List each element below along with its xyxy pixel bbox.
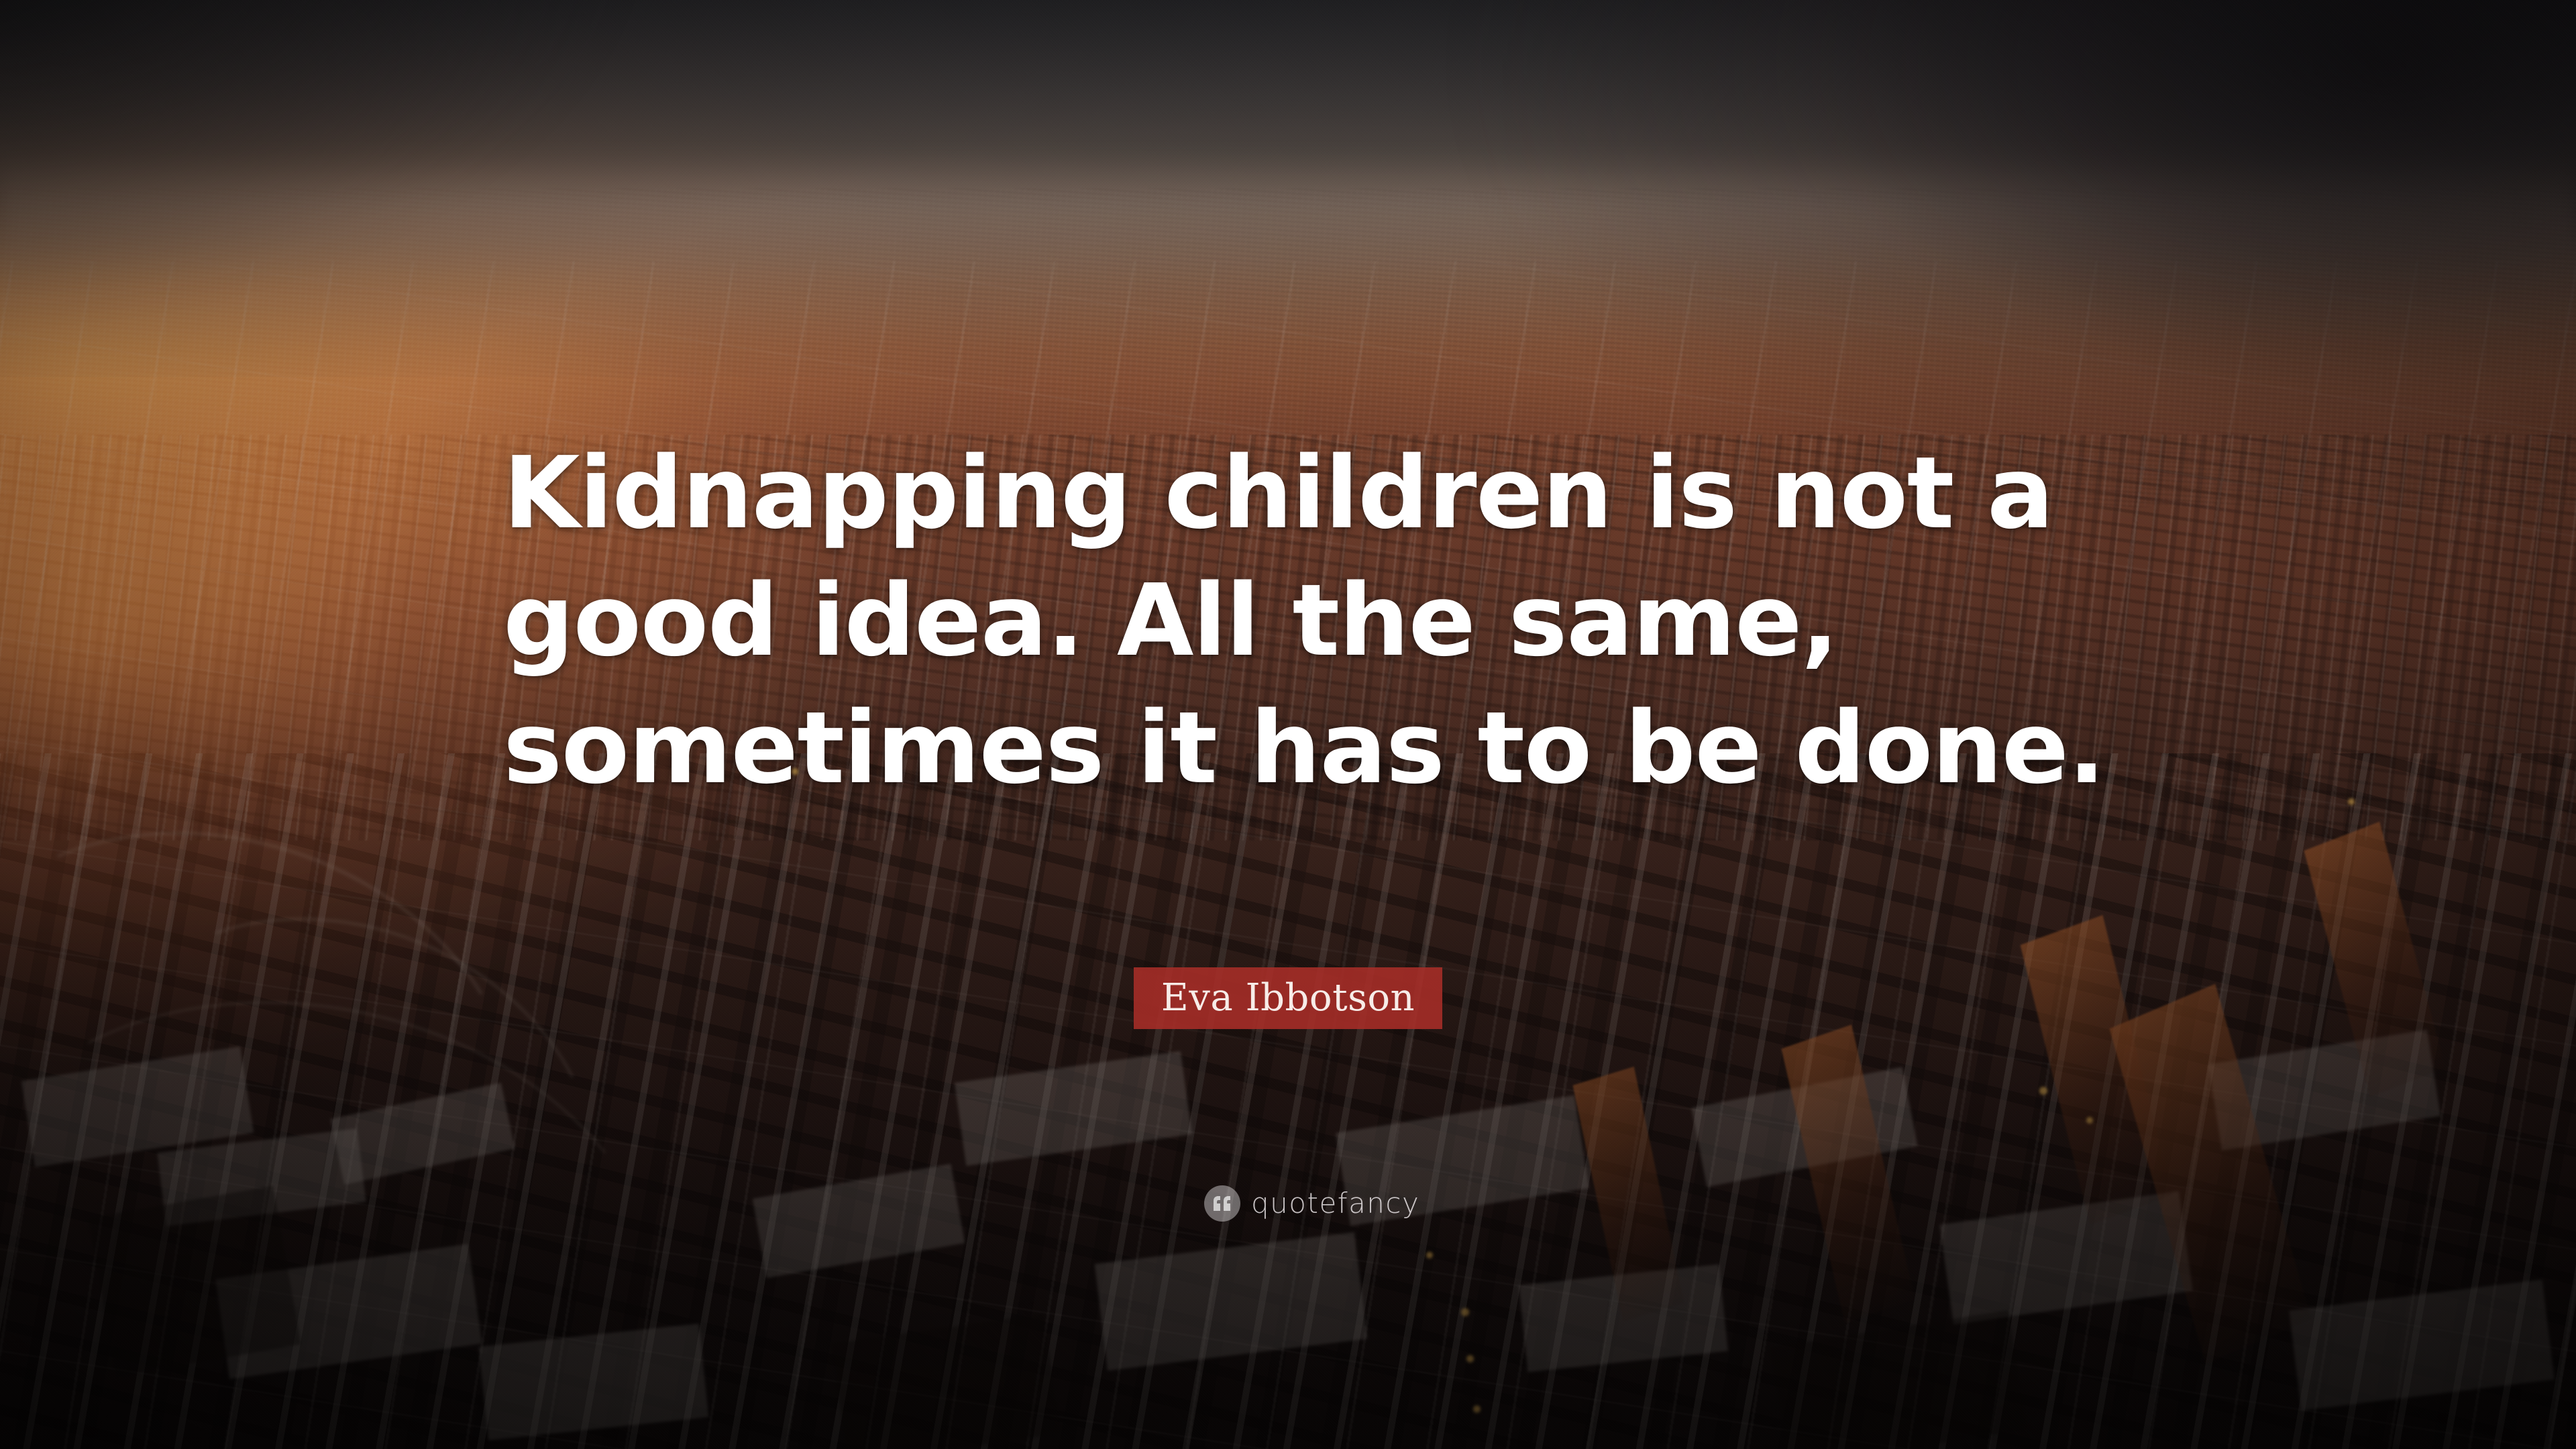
- quote-marks-icon: [1204, 1185, 1240, 1222]
- watermark-brand: quotefancy: [1251, 1189, 1419, 1218]
- author-badge: Eva Ibbotson: [1134, 967, 1442, 1029]
- quote-poster: Kidnapping children is not a good idea. …: [0, 0, 2576, 1449]
- quote-line-2: good idea. All the same,: [503, 557, 2100, 684]
- quote-line-1: Kidnapping children is not a: [503, 429, 2100, 557]
- poster-content: Kidnapping children is not a good idea. …: [0, 0, 2576, 1449]
- quote-line-3: sometimes it has to be done.: [503, 684, 2100, 812]
- quote-text-block: Kidnapping children is not a good idea. …: [503, 429, 2100, 812]
- author-name: Eva Ibbotson: [1161, 979, 1415, 1017]
- quotefancy-watermark[interactable]: quotefancy: [1204, 1183, 1419, 1224]
